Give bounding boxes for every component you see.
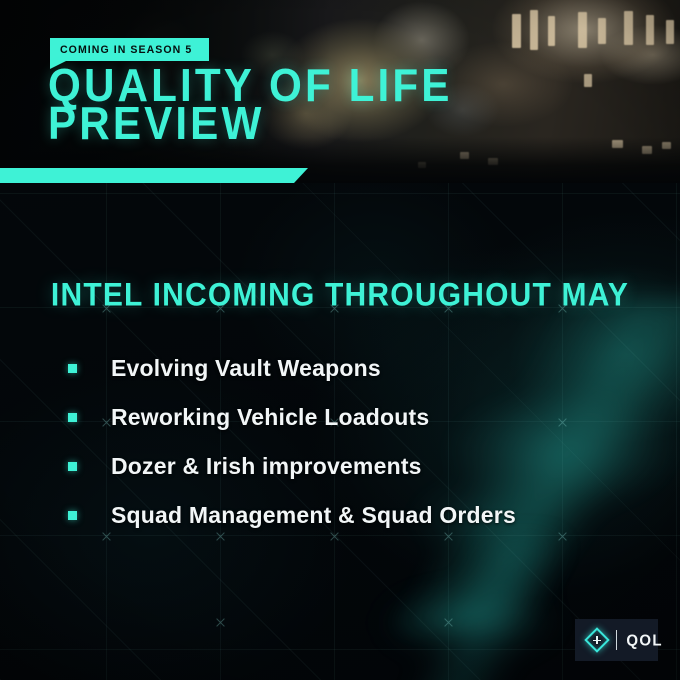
feature-list: Evolving Vault Weapons Reworking Vehicle… (68, 352, 516, 532)
poster: COMING IN SEASON 5 QUALITY OF LIFE PREVI… (0, 0, 680, 680)
list-item-label: Reworking Vehicle Loadouts (111, 404, 429, 431)
qol-badge-label: QOL (626, 631, 662, 649)
list-item: Reworking Vehicle Loadouts (68, 401, 516, 434)
list-item: Squad Management & Squad Orders (68, 499, 516, 532)
season-badge: COMING IN SEASON 5 (50, 38, 209, 61)
accent-bar (0, 168, 308, 183)
list-item: Evolving Vault Weapons (68, 352, 516, 385)
list-item: Dozer & Irish improvements (68, 450, 516, 483)
page-title: QUALITY OF LIFE PREVIEW (48, 64, 441, 140)
bullet-square-icon (68, 364, 77, 373)
qol-badge: QOL (575, 619, 658, 661)
badge-divider (616, 630, 617, 650)
diamond-crosshair-icon (584, 627, 610, 653)
list-item-label: Evolving Vault Weapons (111, 355, 381, 382)
season-badge-label: COMING IN SEASON 5 (60, 44, 192, 56)
list-item-label: Squad Management & Squad Orders (111, 502, 516, 529)
page-title-line-2: PREVIEW (48, 102, 453, 145)
bullet-square-icon (68, 413, 77, 422)
bullet-square-icon (68, 511, 77, 520)
section-title: INTEL INCOMING THROUGHOUT MAY (0, 278, 680, 315)
bullet-square-icon (68, 462, 77, 471)
list-item-label: Dozer & Irish improvements (111, 453, 422, 480)
